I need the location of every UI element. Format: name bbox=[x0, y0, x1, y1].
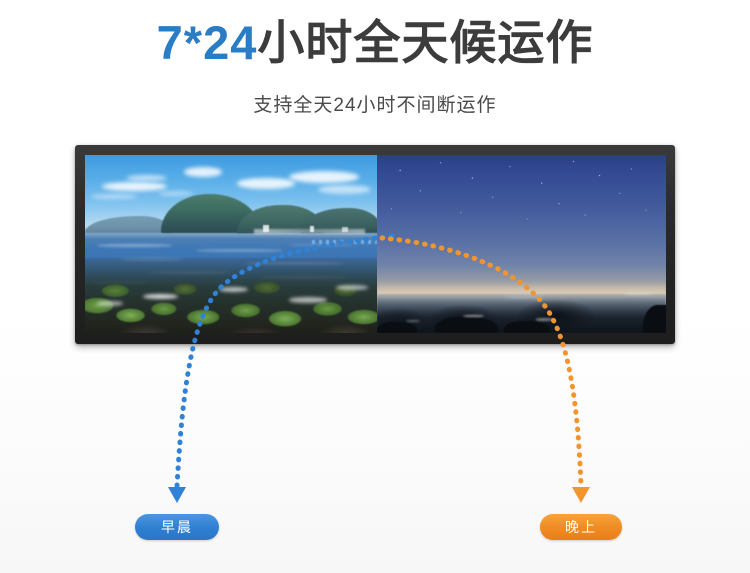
night-rock bbox=[504, 321, 550, 333]
evening-label-pill[interactable]: 晚上 bbox=[540, 514, 622, 540]
morning-arrowhead-icon bbox=[168, 487, 186, 503]
sea-foam bbox=[219, 287, 248, 292]
cloud-icon bbox=[318, 185, 370, 194]
nighttime-scene-panel bbox=[377, 155, 666, 333]
sea-foam bbox=[336, 285, 368, 290]
monitor-screen bbox=[85, 155, 666, 333]
sea-foam bbox=[97, 301, 123, 306]
cloud-icon bbox=[184, 167, 222, 177]
evening-arrowhead-icon bbox=[572, 487, 590, 503]
building-shape bbox=[342, 227, 348, 232]
daytime-scene-panel bbox=[85, 155, 377, 333]
night-rock bbox=[377, 322, 418, 333]
water-shimmer bbox=[196, 249, 283, 252]
mountain-shape bbox=[85, 216, 172, 234]
night-rock bbox=[435, 317, 499, 333]
promo-page: 7*24小时全天候运作 支持全天24小时不间断运作 bbox=[0, 0, 750, 573]
page-title: 7*24小时全天候运作 bbox=[0, 12, 750, 74]
mossy-rocks-foreground bbox=[85, 258, 377, 333]
title-accent: 7*24 bbox=[157, 16, 258, 69]
night-splash bbox=[463, 315, 483, 317]
cloud-icon bbox=[102, 182, 166, 191]
water-shimmer bbox=[289, 244, 353, 246]
morning-label-pill[interactable]: 早晨 bbox=[135, 514, 219, 540]
cloud-icon bbox=[126, 175, 167, 181]
building-shape bbox=[310, 226, 315, 231]
stars-field bbox=[377, 155, 666, 283]
building-shape bbox=[263, 225, 269, 231]
cloud-icon bbox=[237, 178, 295, 189]
buoy-line bbox=[312, 240, 376, 245]
cloud-icon bbox=[289, 171, 359, 183]
page-subtitle: 支持全天24小时不间断运作 bbox=[0, 92, 750, 120]
water-shimmer bbox=[97, 244, 173, 247]
night-splash bbox=[536, 318, 553, 320]
monitor-bezel bbox=[75, 145, 675, 344]
cloud-icon bbox=[158, 191, 193, 196]
title-rest: 小时全天候运作 bbox=[257, 16, 593, 69]
cloud-icon bbox=[91, 194, 138, 199]
sea-foam bbox=[289, 297, 327, 302]
